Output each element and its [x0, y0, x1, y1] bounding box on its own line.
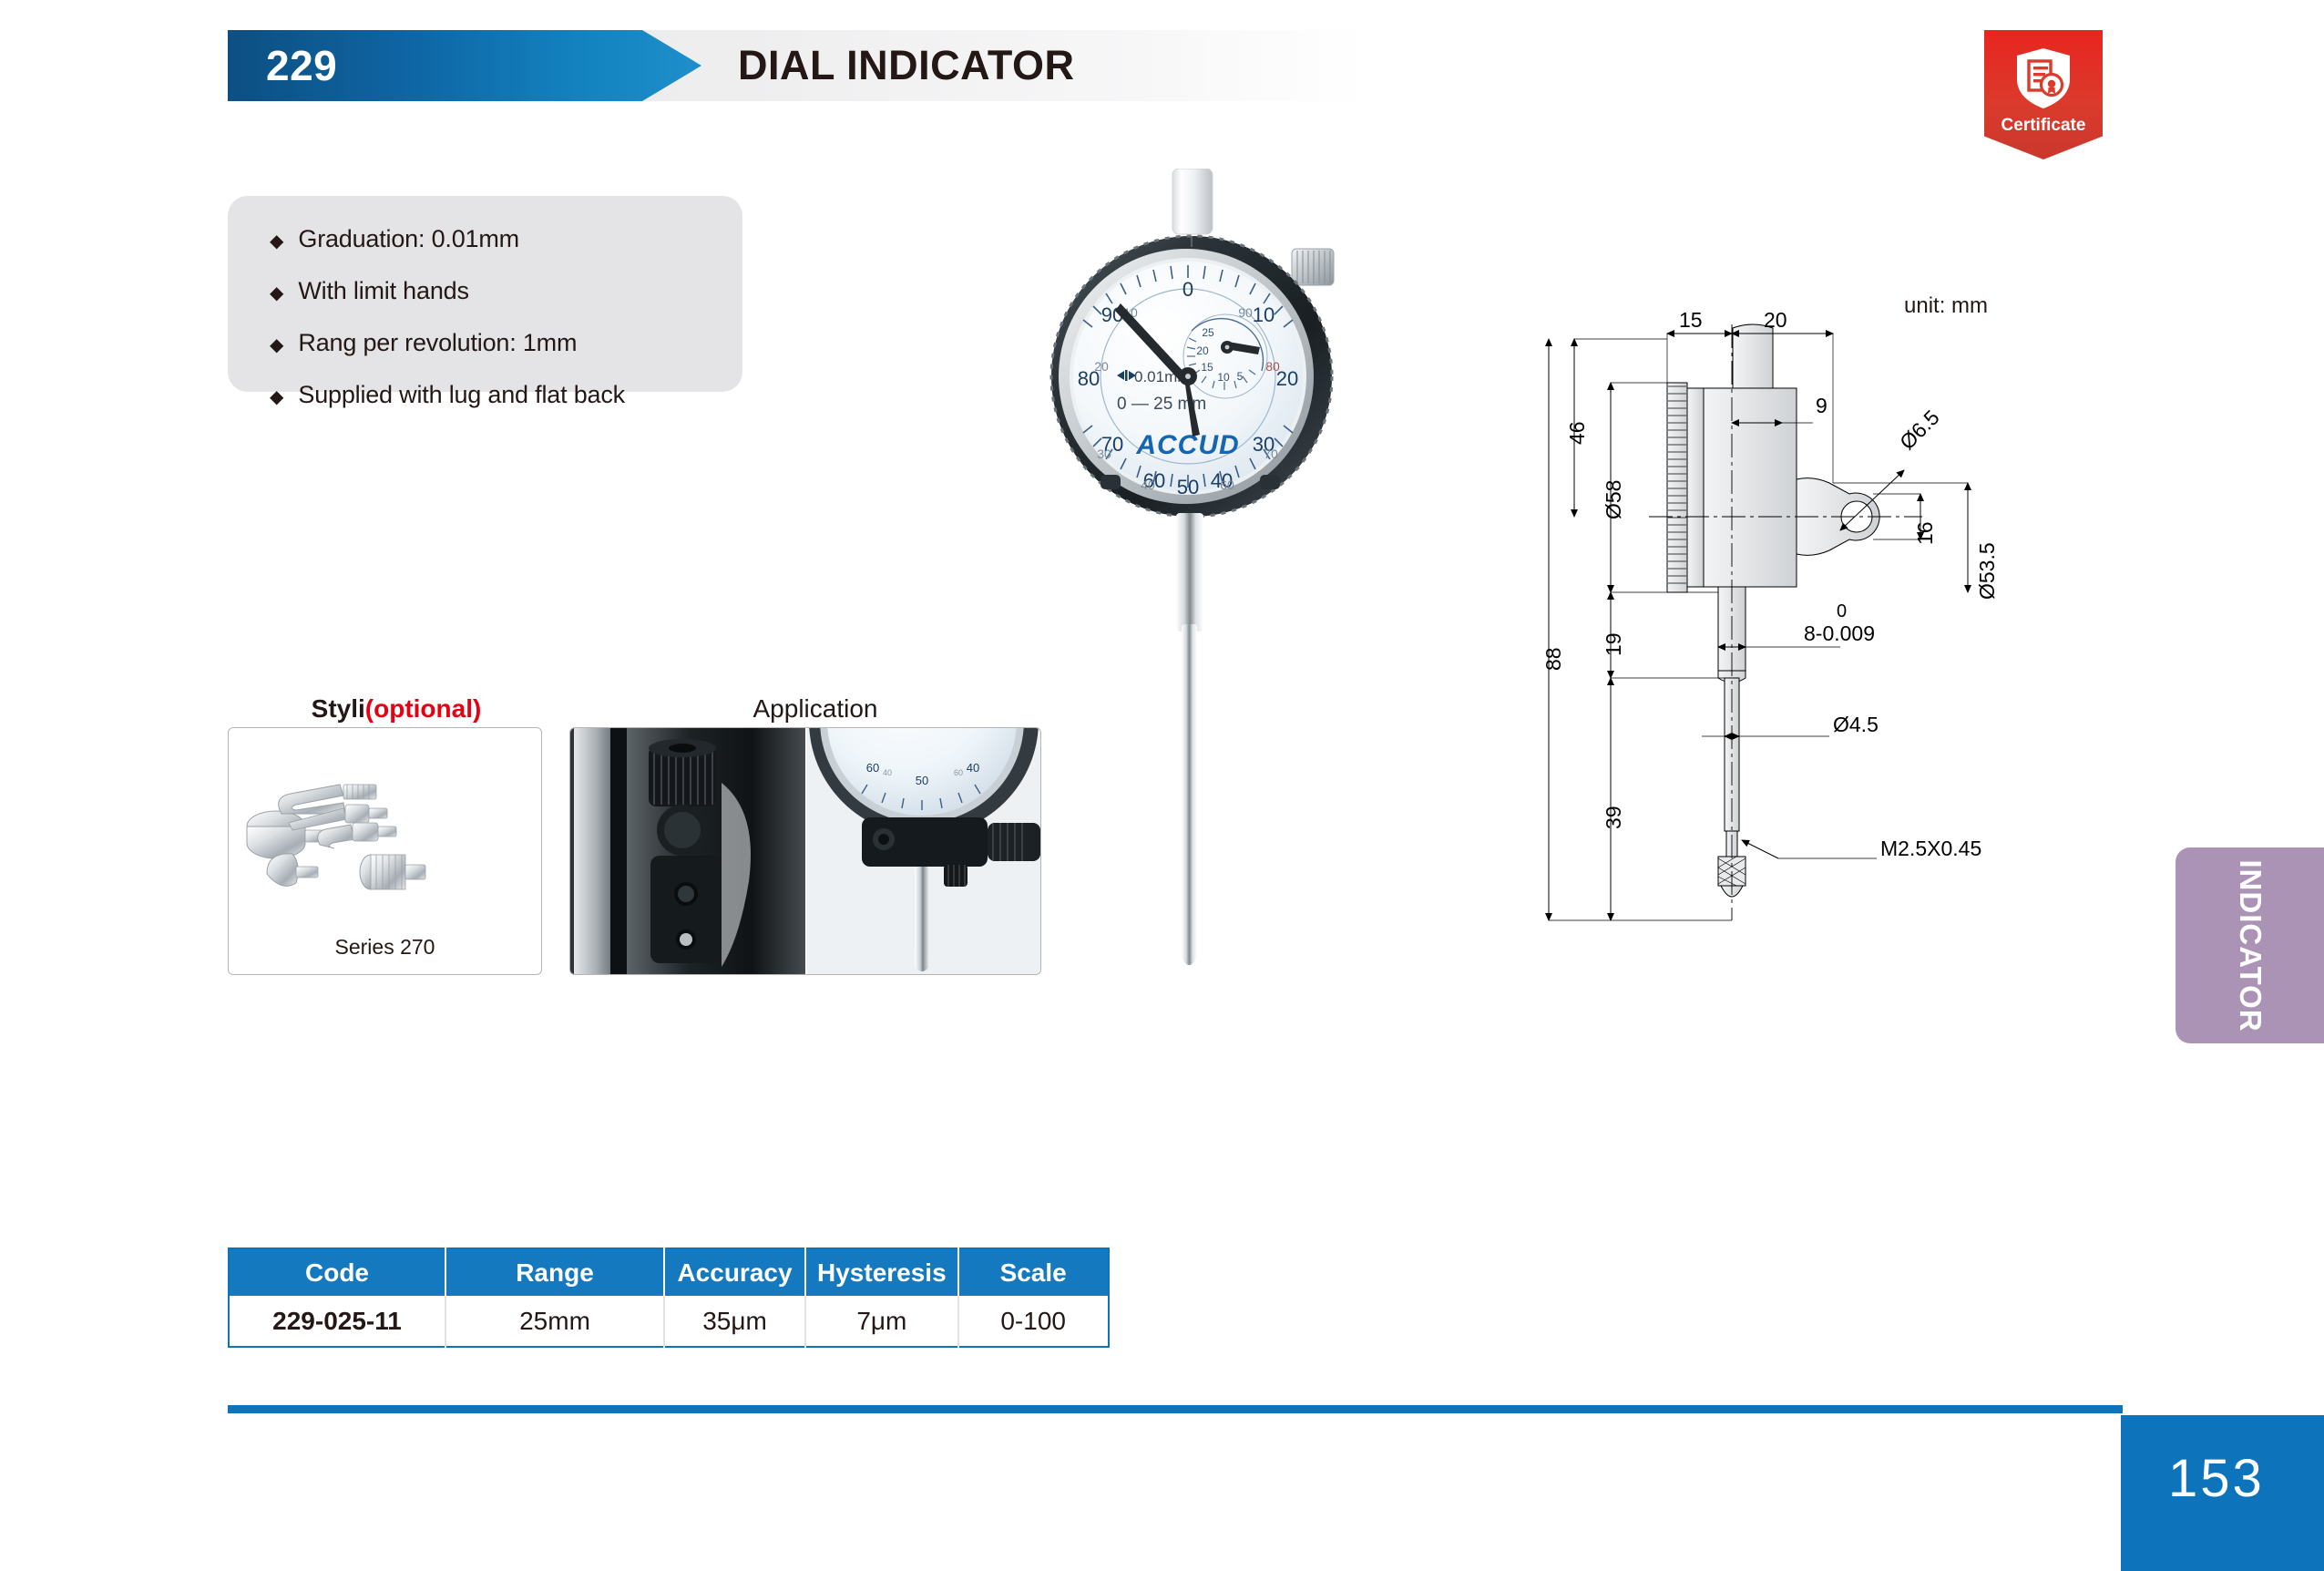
- dim-tolerance-top: 0: [1837, 601, 1847, 622]
- page-header: 229 DIAL INDICATOR: [228, 30, 1365, 101]
- diamond-bullet-icon: ◆: [270, 388, 283, 406]
- dim-d53-5: Ø53.5: [1975, 542, 2000, 600]
- product-series-code: 229: [266, 41, 337, 90]
- svg-text:25: 25: [1202, 326, 1214, 339]
- column-header-range: Range: [445, 1248, 664, 1296]
- svg-text:30: 30: [1097, 447, 1111, 461]
- dim-88: 88: [1541, 647, 1566, 671]
- product-photo-dial-indicator: 0 10 20 30 40 50 60 70 80 90 10 90 20 80…: [998, 169, 1408, 1025]
- application-photo-indicator-mounted: 605040 4060: [805, 728, 1040, 974]
- catalog-page: 229 DIAL INDICATOR Certificate ◆ Graduat…: [0, 0, 2324, 1571]
- dim-d58: Ø58: [1602, 480, 1626, 519]
- brand-logo: ACCUD: [1135, 430, 1239, 460]
- svg-text:5: 5: [1237, 370, 1244, 383]
- diamond-bullet-icon: ◆: [270, 336, 283, 354]
- svg-text:40: 40: [883, 768, 892, 777]
- feature-item: ◆ Rang per revolution: 1mm: [270, 329, 742, 357]
- table-header-row: Code Range Accuracy Hysteresis Scale: [229, 1248, 1109, 1296]
- dim-39: 39: [1602, 806, 1626, 829]
- svg-text:15: 15: [1201, 361, 1213, 374]
- dial-crown: [1292, 249, 1334, 285]
- dim-thread: M2.5X0.45: [1880, 837, 1981, 861]
- diamond-bullet-icon: ◆: [270, 232, 283, 251]
- dim-9: 9: [1816, 394, 1827, 418]
- dim-d4-5: Ø4.5: [1833, 713, 1879, 737]
- svg-text:10: 10: [1217, 371, 1230, 384]
- svg-text:40: 40: [1141, 477, 1155, 492]
- features-panel: ◆ Graduation: 0.01mm ◆ With limit hands …: [228, 196, 742, 392]
- application-photo-stand: [570, 728, 805, 974]
- column-header-hysteresis: Hysteresis: [805, 1248, 958, 1296]
- svg-text:80: 80: [1265, 359, 1280, 374]
- certificate-label: Certificate: [1984, 116, 2103, 136]
- dim-16: 16: [1913, 521, 1938, 545]
- styli-heading: Styli(optional): [282, 694, 510, 724]
- svg-text:50: 50: [916, 774, 928, 787]
- svg-text:20: 20: [1196, 344, 1209, 357]
- svg-text:60: 60: [866, 761, 879, 775]
- svg-text:70: 70: [1264, 447, 1278, 461]
- svg-text:20: 20: [1094, 359, 1109, 374]
- svg-text:0: 0: [1182, 278, 1193, 301]
- styli-caption: Series 270: [229, 935, 541, 960]
- specification-table: Code Range Accuracy Hysteresis Scale 229…: [228, 1248, 1110, 1348]
- svg-text:10: 10: [1253, 303, 1275, 326]
- feature-item: ◆ With limit hands: [270, 277, 742, 305]
- diamond-bullet-icon: ◆: [270, 284, 283, 303]
- svg-text:60: 60: [954, 768, 963, 777]
- technical-drawing: 15 20 9 46 88 Ø58 19 39 Ø53.5 16 Ø6.5 0 …: [1540, 292, 2050, 984]
- dim-15: 15: [1679, 308, 1703, 333]
- cell-accuracy: 35μm: [664, 1296, 805, 1347]
- dim-46: 46: [1565, 421, 1590, 445]
- cell-range: 25mm: [445, 1296, 664, 1347]
- styli-optional-tag: (optional): [365, 694, 482, 723]
- column-header-accuracy: Accuracy: [664, 1248, 805, 1296]
- dim-8-tolerance: 8-0.009: [1804, 621, 1875, 646]
- feature-item: ◆ Graduation: 0.01mm: [270, 225, 742, 253]
- section-tab-indicator[interactable]: INDICATOR: [2176, 847, 2324, 1043]
- application-heading: Application: [569, 694, 1061, 724]
- styli-photo-box: Series 270: [228, 727, 542, 975]
- column-header-scale: Scale: [958, 1248, 1109, 1296]
- feature-label: Rang per revolution: 1mm: [298, 329, 577, 357]
- feature-label: With limit hands: [298, 277, 468, 305]
- svg-text:50: 50: [1177, 476, 1199, 498]
- svg-text:60: 60: [1220, 477, 1234, 492]
- dim-20: 20: [1764, 308, 1787, 333]
- cell-code: 229-025-11: [229, 1296, 445, 1347]
- styli-title: Styli: [312, 694, 365, 723]
- certificate-badge: Certificate: [1984, 30, 2103, 159]
- feature-label: Supplied with lug and flat back: [298, 381, 625, 409]
- footer-divider: [228, 1405, 2123, 1413]
- page-number: 153: [2168, 1448, 2265, 1509]
- feature-item: ◆ Supplied with lug and flat back: [270, 381, 742, 409]
- cell-hysteresis: 7μm: [805, 1296, 958, 1347]
- column-header-code: Code: [229, 1248, 445, 1296]
- application-photo-box: 605040 4060: [569, 727, 1041, 975]
- certificate-shield-icon: [2013, 46, 2073, 110]
- dim-19: 19: [1602, 632, 1626, 656]
- page-title: DIAL INDICATOR: [738, 42, 1075, 89]
- page-number-block: 153: [2121, 1415, 2324, 1571]
- section-tab-label: INDICATOR: [2233, 859, 2268, 1032]
- table-row: 229-025-11 25mm 35μm 7μm 0-100: [229, 1296, 1109, 1347]
- feature-label: Graduation: 0.01mm: [298, 225, 519, 253]
- cell-scale: 0-100: [958, 1296, 1109, 1347]
- svg-text:40: 40: [967, 761, 979, 775]
